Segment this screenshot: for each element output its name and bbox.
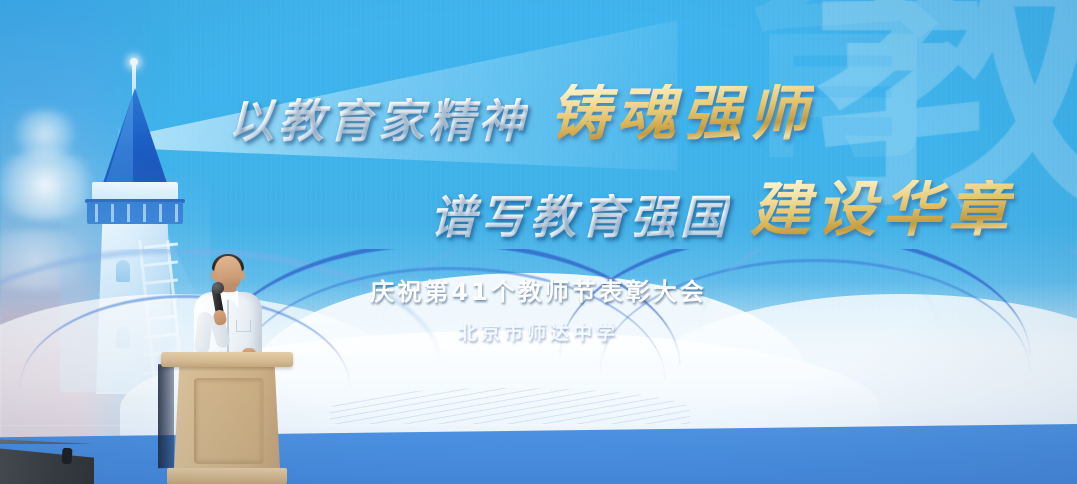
podium-base [167, 468, 287, 484]
person-ear [239, 271, 245, 280]
watermark-character: 教 [815, 0, 1077, 222]
shirt-pocket [236, 320, 251, 332]
podium-shadow [158, 364, 174, 469]
book-page-texture [330, 388, 690, 424]
screenshot-root: 育 教 [0, 0, 1077, 484]
stage-monitor-handle [61, 448, 72, 465]
shirt-placket [227, 300, 229, 356]
podium-front-panel [194, 378, 264, 464]
podium [172, 352, 282, 484]
wave-curve [380, 249, 940, 334]
lighthouse-lamp [130, 58, 138, 66]
podium-top-surface [161, 352, 293, 367]
lighthouse-railing [87, 202, 183, 224]
speaker-person [188, 256, 266, 366]
person-ear [211, 271, 217, 280]
